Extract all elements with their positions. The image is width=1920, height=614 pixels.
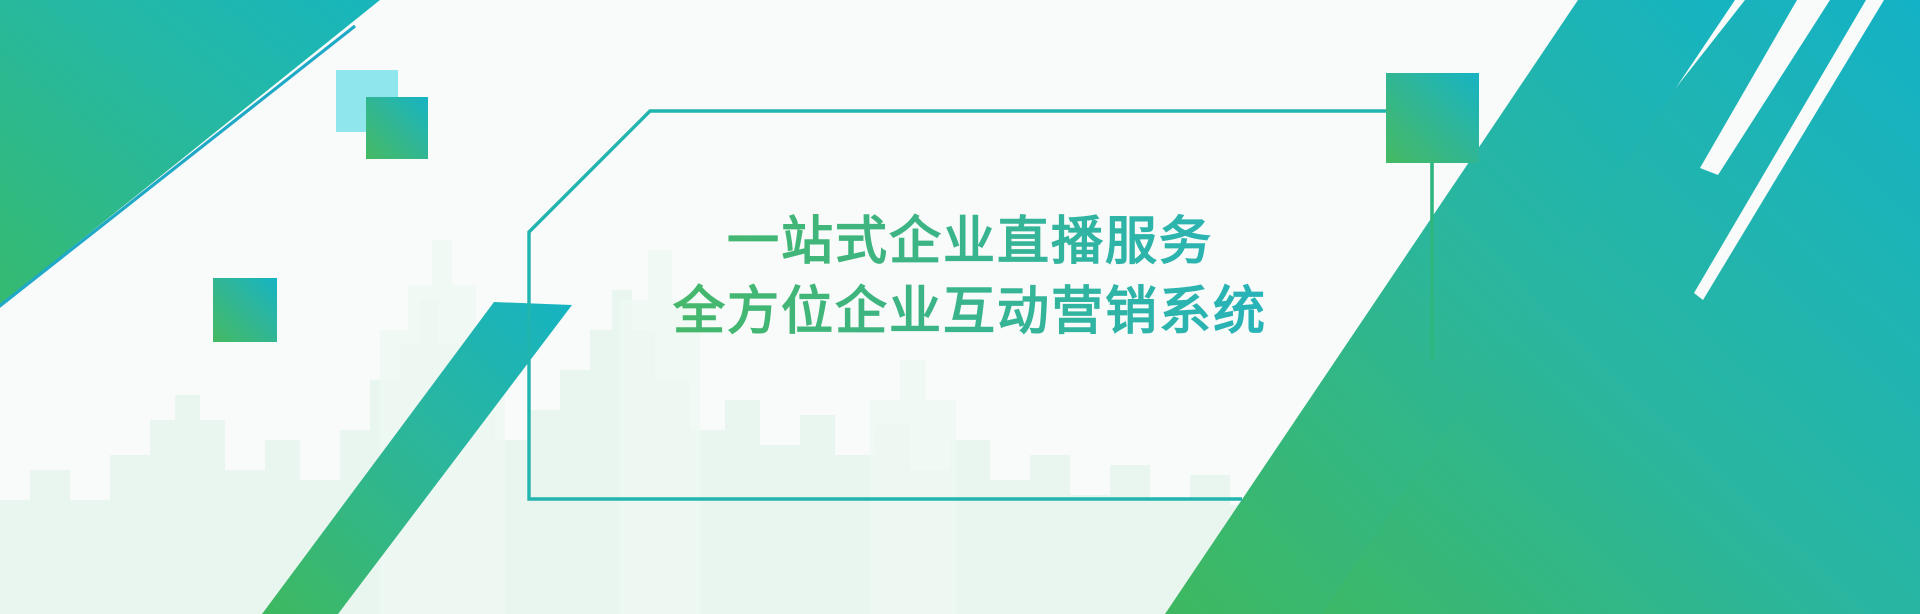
gradient-square-small xyxy=(366,97,428,159)
banner-artwork xyxy=(0,0,1920,614)
marketing-banner: 一站式企业直播服务 全方位企业互动营销系统 xyxy=(0,0,1920,614)
gradient-square-left xyxy=(213,278,277,342)
gradient-square-top-right xyxy=(1386,73,1479,163)
